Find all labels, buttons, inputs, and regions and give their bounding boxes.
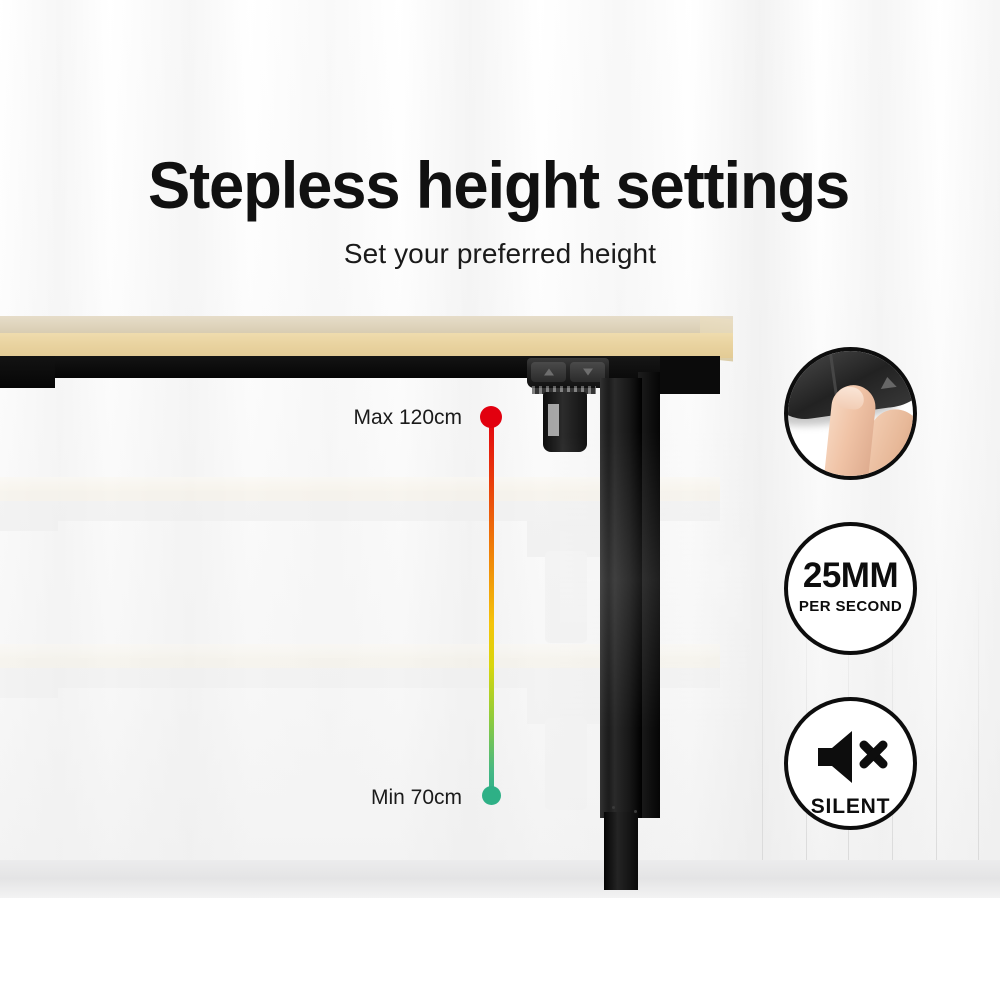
frame-beam-cap [0,356,55,388]
max-height-marker [480,406,502,428]
height-controller[interactable] [527,358,609,388]
curtain-line [762,560,763,890]
leg-screw [634,810,637,813]
up-button[interactable] [531,362,566,382]
speaker-mute-icon [814,727,888,792]
leg-highlight [600,378,609,818]
floor-band [0,860,1000,902]
floor-base [0,898,1000,1000]
min-height-marker [482,786,501,805]
silent-label: SILENT [788,795,913,819]
motor-label [548,404,559,436]
page-title: Stepless height settings [148,152,839,218]
badge-speed: 25MM PER SECOND [784,522,917,655]
frame-bracket-inner [660,356,720,394]
speed-value: 25MM [788,556,913,596]
page-subtitle: Set your preferred height [0,238,1000,270]
leg-screw [612,806,615,809]
height-range-gradient [489,415,494,795]
badge-silent: SILENT [784,697,917,830]
curtain-line [978,560,979,890]
handset-up-arrow-icon [879,376,896,389]
min-height-label: Min 70cm [250,786,462,810]
speed-unit: PER SECOND [788,598,913,615]
down-arrow-icon [583,369,593,376]
product-feature-image: Stepless height settings Set your prefer… [0,0,1000,1000]
curtain-line [936,560,937,890]
desktop-edge [0,333,733,358]
leg-lower-column [604,812,638,890]
up-arrow-icon [544,369,554,376]
max-height-label: Max 120cm [250,406,462,430]
badge-handset-photo [784,347,917,480]
